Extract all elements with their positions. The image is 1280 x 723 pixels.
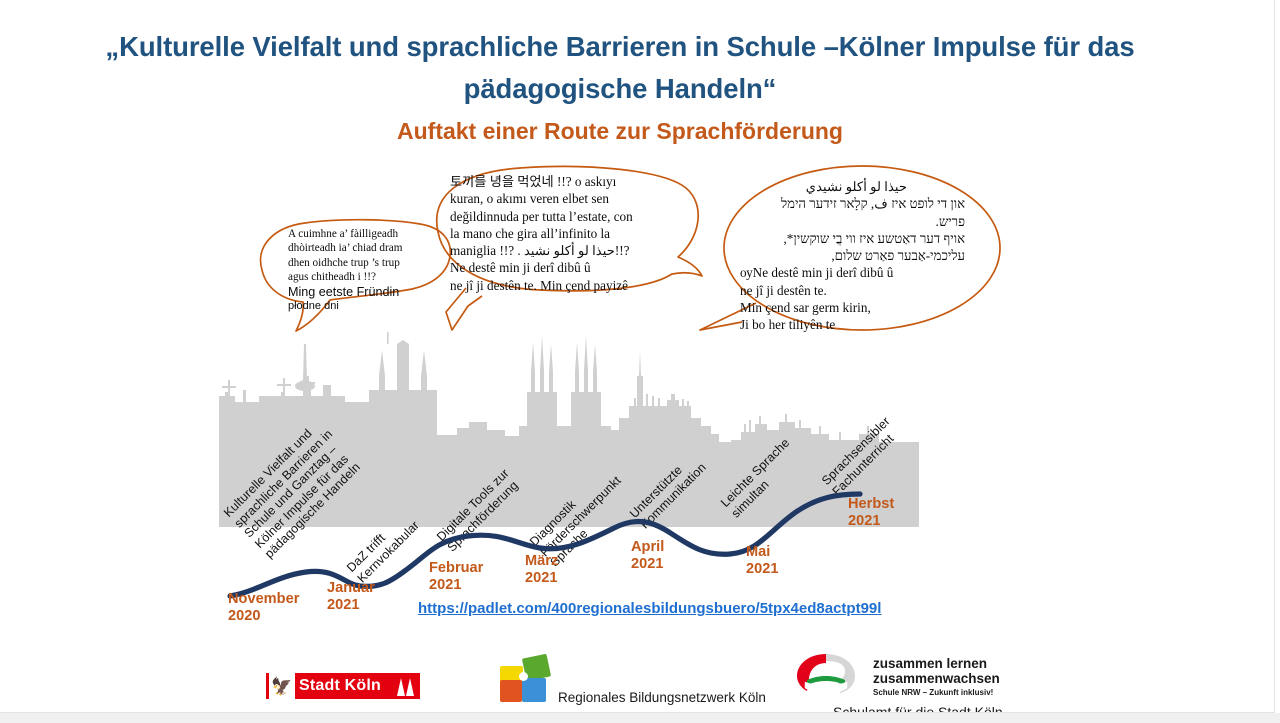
page-title: „Kulturelle Vielfalt und sprachliche Bar… [60,26,1180,110]
logo-stadt-koeln: 🦅 Stadt Köln [266,673,420,699]
bubble-left-line-3: agus chitheadh i !!? [288,270,438,284]
speech-bubble-middle: 토끼를 녕을 먹었네 !!? o askıyı kuran, o akımı v… [450,173,665,294]
speech-bubble-left: A cuimhne a’ fàilligeadh dhòirteadh ia’ … [288,227,438,313]
page-subtitle: Auftakt einer Route zur Sprachförderung [60,117,1180,145]
bubble-left-line-5: płodne dni [288,299,438,313]
eagle-crest-icon: 🦅 [269,673,295,699]
logo-zlz-caption: Schulamt für die Stadt Köln [833,704,1003,713]
bubble-right-line-0: حيذا لو أكلو نشيدي [740,178,965,195]
bubble-right-line-2: פריש. [740,213,965,230]
bubble-right-line-3: אויף דער דאַטשע איז ווי בֲי שוקשין*, [740,230,965,247]
logo-stadt-koeln-label: Stadt Köln [299,677,397,695]
slide-canvas: „Kulturelle Vielfalt und sprachliche Bar… [0,0,1275,713]
cathedral-spires-icon [397,676,414,696]
bubble-middle-line-5: Ne destê min ji derî dibû û [450,259,665,276]
bubble-right-line-8: Ji bo her tiliyên te [740,316,965,333]
open-book-swoosh-icon [795,652,857,694]
bubble-middle-line-6: ne jî ji destên te. Min çend payizê [450,277,665,294]
route-month-2: Februar 2021 [429,560,483,594]
logo-zlz-line1: zusammen lernen [873,656,1000,671]
page-title-line1: „Kulturelle Vielfalt und sprachliche Bar… [60,26,1180,68]
bubble-right-line-7: Min çend sar germ kirin, [740,299,965,316]
logo-zlz-line2: zusammenwachsen [873,671,1000,686]
puzzle-pieces-icon [500,654,560,704]
bubble-left-line-2: dhen oidhche trup ’s trup [288,256,438,270]
padlet-link[interactable]: https://padlet.com/400regionalesbildungs… [418,600,881,617]
bubble-left-line-0: A cuimhne a’ fàilligeadh [288,227,438,241]
logo-regionales-bildungsnetzwerk: Regionales Bildungsnetzwerk Köln [500,654,560,704]
route-month-0: November 2020 [228,591,299,625]
bubble-middle-line-1: kuran, o akımı veren elbet sen [450,190,665,207]
bubble-middle-tail [446,288,482,330]
bubble-middle-line-4: maniglia !!? . حيذا لو أكلو نشيد!!? [450,242,665,259]
bubble-left-line-1: dhòirteadh ia’ chiad dram [288,241,438,255]
logo-bildungsnetzwerk-label: Regionales Bildungsnetzwerk Köln [558,690,766,705]
bubble-middle-line-0: 토끼를 녕을 먹었네 !!? o askıyı [450,173,665,190]
bubble-middle-line-2: değildinnuda per tutta l’estate, con [450,208,665,225]
route-month-6: Herbst 2021 [848,496,894,530]
route-curve [210,470,930,610]
route-month-5: Mai 2021 [746,544,778,578]
logo-zlz-line3: Schule NRW – Zukunft inklusiv! [873,688,1000,697]
bubble-right-line-4: עליכמי-אַבער פאַרט שלום, [740,247,965,264]
bubble-middle-line-3: la mano che gira all’infinito la [450,225,665,242]
route-month-4: April 2021 [631,539,664,573]
bubble-left-line-4: Ming eetste Fründin [288,285,438,299]
page-title-line2: pädagogische Handeln“ [60,68,1180,110]
route-month-3: März 2021 [525,553,558,587]
bubble-right-line-5: оуNe destê min ji derî dibû û [740,264,965,281]
window-bottom-edge [0,713,1280,723]
route-month-1: Januar 2021 [327,580,375,614]
bubble-right-line-1: און די לופט איז ف, קלָאר זידער הימל [740,195,965,212]
bubble-right-line-6: ne jî ji destên te. [740,282,965,299]
speech-bubble-right: حيذا لو أكلو نشيدي און די לופט איז ف, קל… [740,178,965,334]
